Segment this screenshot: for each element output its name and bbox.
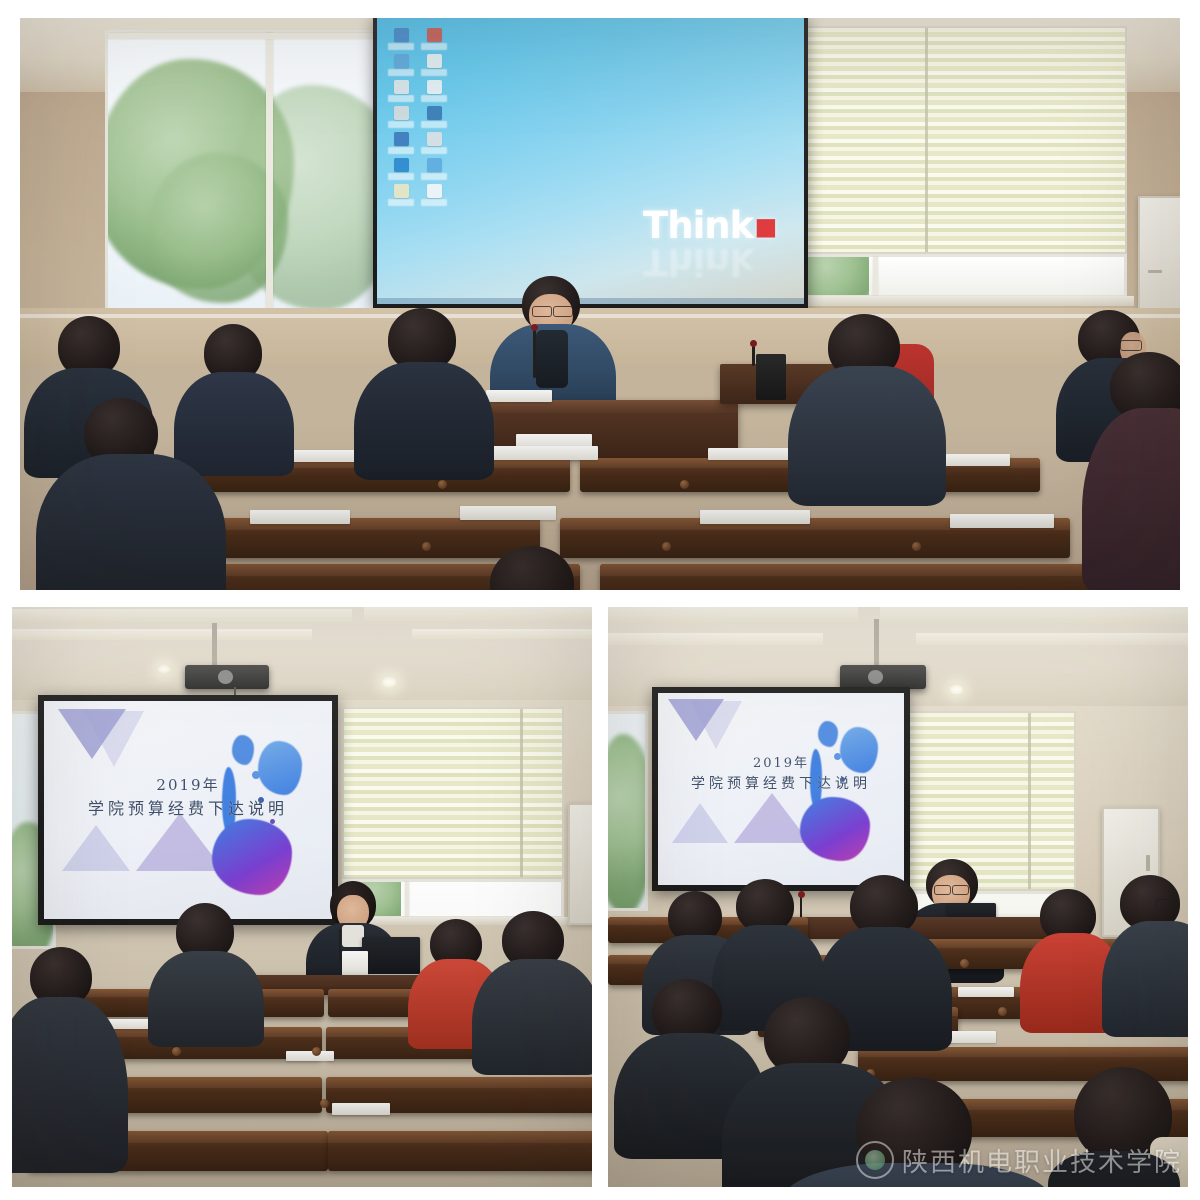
glasses-icon — [1156, 899, 1176, 910]
slide-subtitle: 学院预算经费下达说明 — [658, 774, 904, 794]
window-mullion-horizontal — [108, 33, 402, 39]
ceiling-downlight — [950, 685, 963, 694]
projection-screen-frame: 2019年 学院预算经费下达说明 — [38, 695, 338, 925]
think-logo-dot: ▪ — [753, 204, 777, 247]
desktop-icon[interactable] — [419, 184, 449, 206]
attendee — [360, 308, 486, 478]
attendee-maroon — [1092, 352, 1180, 590]
desktop-icon[interactable] — [386, 80, 416, 102]
slide-ink-blot — [232, 735, 254, 765]
bench-knob — [312, 1047, 321, 1056]
bench-knob — [960, 959, 969, 968]
bench-knob — [172, 1047, 181, 1056]
attendee — [60, 398, 210, 590]
ceiling-light-strip — [364, 607, 592, 621]
desk-paper — [460, 506, 556, 520]
blinds-seam — [925, 28, 928, 252]
projection-screen-surface: 2019年 学院预算经费下达说明 — [44, 701, 332, 919]
slide-title: 2019年 学院预算经费下达说明 — [44, 775, 332, 820]
think-logo-reflection: Think — [643, 240, 753, 283]
ceiling-light-strip — [880, 607, 1188, 624]
watermark-seal-inner — [865, 1150, 885, 1170]
desktop-icon[interactable] — [419, 80, 449, 102]
attendee-torso — [788, 366, 946, 506]
window-sill-right — [776, 296, 1134, 306]
microphone-table — [339, 929, 341, 961]
slide-triangle-outline — [84, 711, 144, 767]
bench-row — [600, 564, 1140, 590]
desk-paper — [958, 987, 1014, 997]
slide-triangle-bottom — [734, 793, 810, 843]
presentation-slide: 2019年 学院预算经费下达说明 — [44, 701, 332, 919]
desk-paper — [700, 510, 810, 524]
bench-row — [328, 1131, 592, 1171]
ceiling-downlight — [382, 677, 396, 687]
window-blinds-right — [342, 707, 564, 879]
desktop-wallpaper: Think▪ Think — [377, 18, 804, 304]
bench-knob — [438, 480, 447, 489]
desk-paper — [286, 1051, 334, 1061]
window-mullion-vertical — [873, 257, 878, 295]
glasses-icon — [1120, 340, 1142, 351]
desktop-icon[interactable] — [386, 28, 416, 50]
projection-screen-frame: 2019年 学院预算经费下达说明 — [652, 687, 910, 891]
bench-knob — [680, 480, 689, 489]
glasses-icon — [532, 306, 552, 317]
projector-mount-rod — [874, 619, 879, 669]
bench-knob — [998, 1007, 1007, 1016]
window-glass — [785, 257, 1124, 295]
projection-screen-surface: Think▪ Think — [377, 18, 804, 304]
slide-year: 2019年 — [44, 775, 332, 797]
podium-paper — [486, 390, 552, 402]
bench-knob — [422, 542, 431, 551]
desktop-icon[interactable] — [419, 106, 449, 128]
speaker-shirt — [536, 330, 568, 388]
slide-triangle-outline — [690, 701, 742, 749]
desktop-icon[interactable] — [419, 158, 449, 180]
attendee-torso — [472, 959, 592, 1075]
projector-mount-rod — [212, 623, 217, 669]
ceiling-light-strip — [12, 609, 352, 622]
slide-subtitle: 学院预算经费下达说明 — [44, 797, 332, 820]
desktop-icon[interactable] — [386, 132, 416, 154]
window-glass — [108, 33, 402, 309]
window-blinds-right — [782, 26, 1127, 254]
window-mullion-vertical — [405, 882, 409, 916]
meeting-room-top: Think▪ Think — [20, 18, 1180, 590]
projector-lens-icon — [218, 670, 233, 684]
desk-paper — [950, 514, 1054, 528]
window-mullion-vertical — [266, 33, 273, 309]
desktop-icon-column-1 — [386, 28, 416, 206]
projection-screen-surface: 2019年 学院预算经费下达说明 — [658, 693, 904, 885]
slide-year: 2019年 — [658, 755, 904, 774]
window-left — [608, 711, 648, 911]
photo-bottom-left: 2019年 学院预算经费下达说明 — [12, 607, 592, 1187]
attendee-torso — [12, 997, 128, 1173]
desktop-icon[interactable] — [386, 106, 416, 128]
photo-top: Think▪ Think — [20, 18, 1180, 590]
slide-ink-blot — [800, 797, 870, 861]
window-glass — [608, 714, 645, 908]
desktop-icon[interactable] — [386, 184, 416, 206]
watermark-seal-icon — [856, 1141, 894, 1179]
desktop-icon[interactable] — [419, 28, 449, 50]
presentation-slide: 2019年 学院预算经费下达说明 — [658, 693, 904, 885]
slide-title: 2019年 学院预算经费下达说明 — [658, 755, 904, 794]
slide-triangle-bottom — [672, 803, 728, 843]
speaker-collar — [342, 925, 364, 947]
microphone-head — [750, 340, 757, 347]
desk-paper — [250, 510, 350, 524]
attendee — [1108, 875, 1188, 1035]
photo-bottom-right: 2019年 学院预算经费下达说明 — [608, 607, 1188, 1187]
microphone-head — [531, 324, 538, 331]
attendee-torso — [36, 454, 226, 590]
glasses-icon — [952, 885, 969, 895]
photo-collage: Think▪ Think — [0, 0, 1200, 1200]
bench-top — [326, 1077, 592, 1088]
attendee — [14, 947, 122, 1167]
attendee-torso — [148, 951, 264, 1047]
ceiling-light-strip — [916, 633, 1188, 645]
attendee — [480, 911, 592, 1071]
desktop-icon[interactable] — [419, 132, 449, 154]
blinds-seam — [520, 709, 523, 877]
attendee — [152, 903, 262, 1043]
slide-ink-blot — [212, 819, 292, 895]
cabinet-handle — [1146, 855, 1150, 871]
ceiling-light-strip — [608, 633, 823, 645]
projector-lens-icon — [868, 670, 883, 684]
wall-cabinet — [568, 803, 592, 925]
attendee-torso — [354, 362, 494, 480]
bench-knob — [320, 1099, 329, 1108]
bench-top — [328, 1131, 592, 1143]
ceiling-light-strip — [608, 607, 858, 623]
watermark: 陕西机电职业技术学院 — [856, 1141, 1182, 1179]
attendee — [456, 546, 606, 590]
desktop-icon[interactable] — [386, 158, 416, 180]
desktop-icon-column-2 — [419, 28, 449, 206]
bench-knob — [912, 542, 921, 551]
meeting-room-bottom-left: 2019年 学院预算经费下达说明 — [12, 607, 592, 1187]
projector — [840, 665, 926, 689]
slide-ink-blot — [818, 721, 838, 747]
wall-cabinet — [1138, 196, 1180, 326]
ceiling-light-strip — [12, 629, 312, 640]
ceiling-downlight — [158, 665, 170, 673]
desk-paper — [490, 446, 598, 460]
attendee-torso — [1102, 921, 1188, 1037]
window-left — [105, 30, 405, 312]
desk-paper — [708, 448, 800, 460]
blinds-seam — [1028, 713, 1031, 889]
bench-knob — [662, 542, 671, 551]
attendee-torso — [1082, 408, 1180, 590]
meeting-room-bottom-right: 2019年 学院预算经费下达说明 — [608, 607, 1188, 1187]
desktop-icon[interactable] — [386, 54, 416, 76]
audio-speaker-box — [756, 354, 786, 400]
projection-screen-frame: Think▪ Think — [373, 18, 808, 308]
glasses-icon — [553, 306, 573, 317]
sky — [869, 257, 1124, 295]
tree-foliage — [608, 734, 645, 908]
attendee-red — [804, 314, 956, 504]
ceiling-light-strip — [412, 629, 592, 639]
desk-paper — [332, 1103, 390, 1115]
presenter-paper — [342, 951, 368, 977]
microphone-podium — [533, 328, 536, 378]
desktop-icon[interactable] — [419, 54, 449, 76]
attendee-head — [490, 546, 574, 590]
watermark-text: 陕西机电职业技术学院 — [902, 1142, 1182, 1179]
microphone-side — [752, 344, 755, 366]
bench-top — [600, 564, 1140, 576]
window-right-lower — [782, 254, 1127, 298]
slide-triangle-bottom — [136, 813, 224, 871]
slide-triangle-bottom — [62, 825, 130, 871]
cabinet-handle — [1148, 270, 1162, 273]
